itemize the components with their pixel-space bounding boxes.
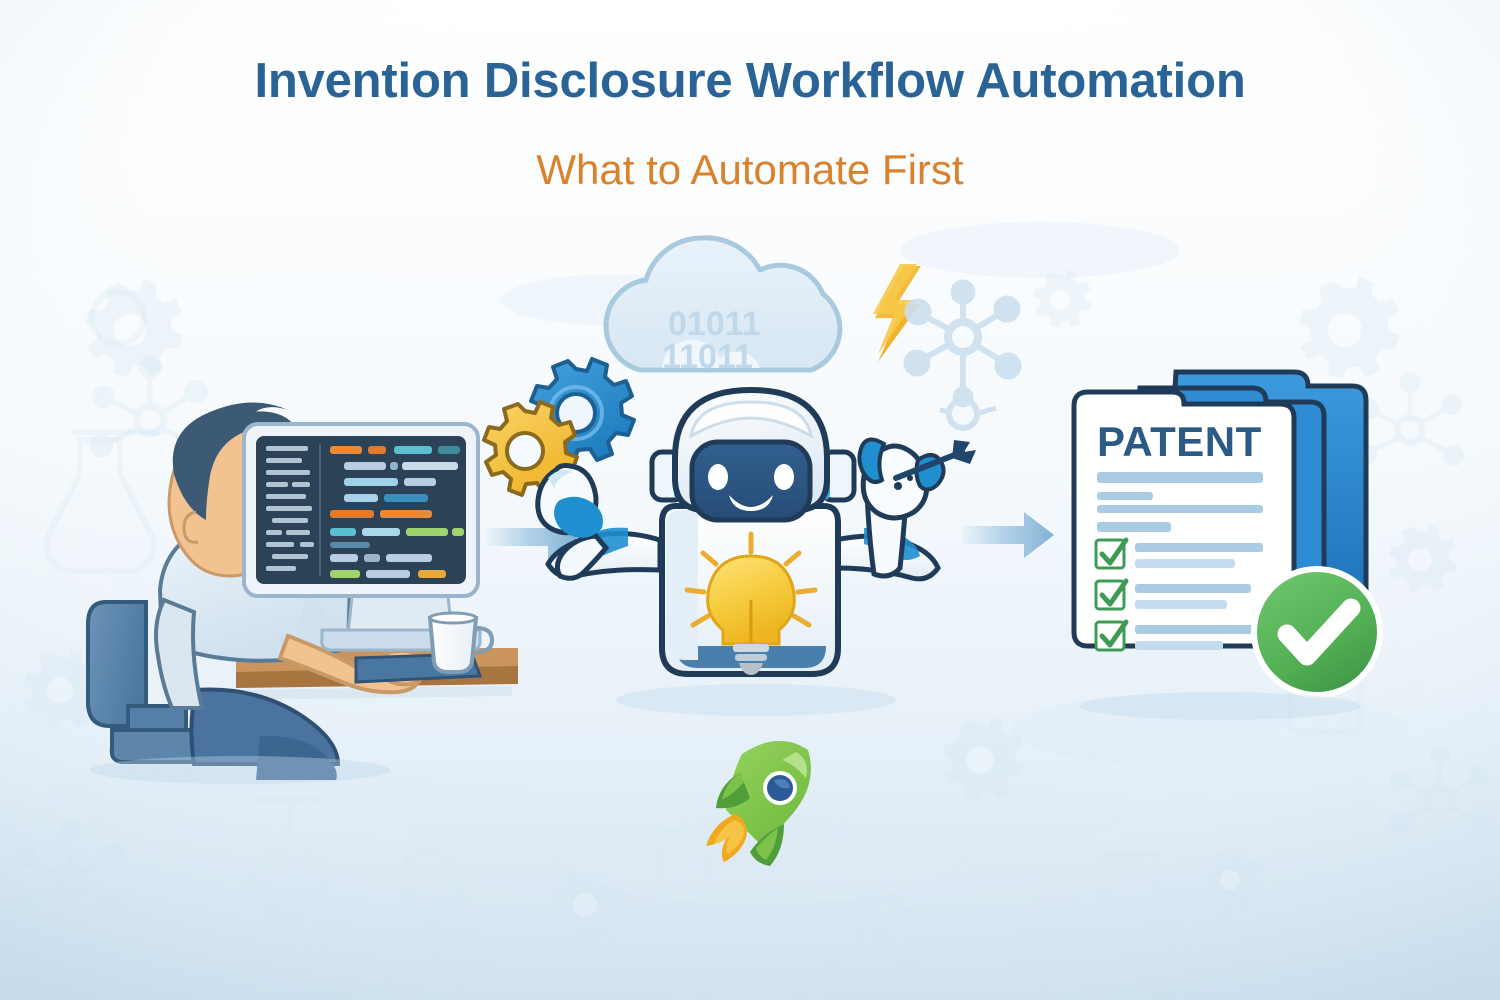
rocket-icon xyxy=(706,741,811,866)
data-cloud: 01011 11011 xyxy=(606,238,840,376)
page-title-container: Invention Disclosure Workflow Automation xyxy=(0,56,1500,107)
illustration-canvas: Invention Disclosure Workflow Automation… xyxy=(0,0,1500,1000)
cloud-binary-bottom: 11011 xyxy=(662,338,753,376)
patent-output-scene: PATENT xyxy=(1074,372,1383,720)
page-subtitle-container: What to Automate First xyxy=(0,148,1500,192)
page-subtitle: What to Automate First xyxy=(0,148,1500,192)
robot-arm-right xyxy=(836,439,976,578)
robot-arm-left xyxy=(538,466,660,579)
page-title: Invention Disclosure Workflow Automation xyxy=(0,56,1500,107)
success-badge xyxy=(1251,566,1383,698)
developer-scene xyxy=(88,402,518,784)
robot-head xyxy=(652,390,854,520)
robot-eye-right xyxy=(774,464,794,490)
document-title: PATENT xyxy=(1097,418,1262,465)
robot-eye-left xyxy=(708,464,728,490)
arrow-robot-to-patent xyxy=(962,512,1054,558)
robot-face-screen xyxy=(692,442,810,520)
network-node-icon xyxy=(904,280,1021,428)
